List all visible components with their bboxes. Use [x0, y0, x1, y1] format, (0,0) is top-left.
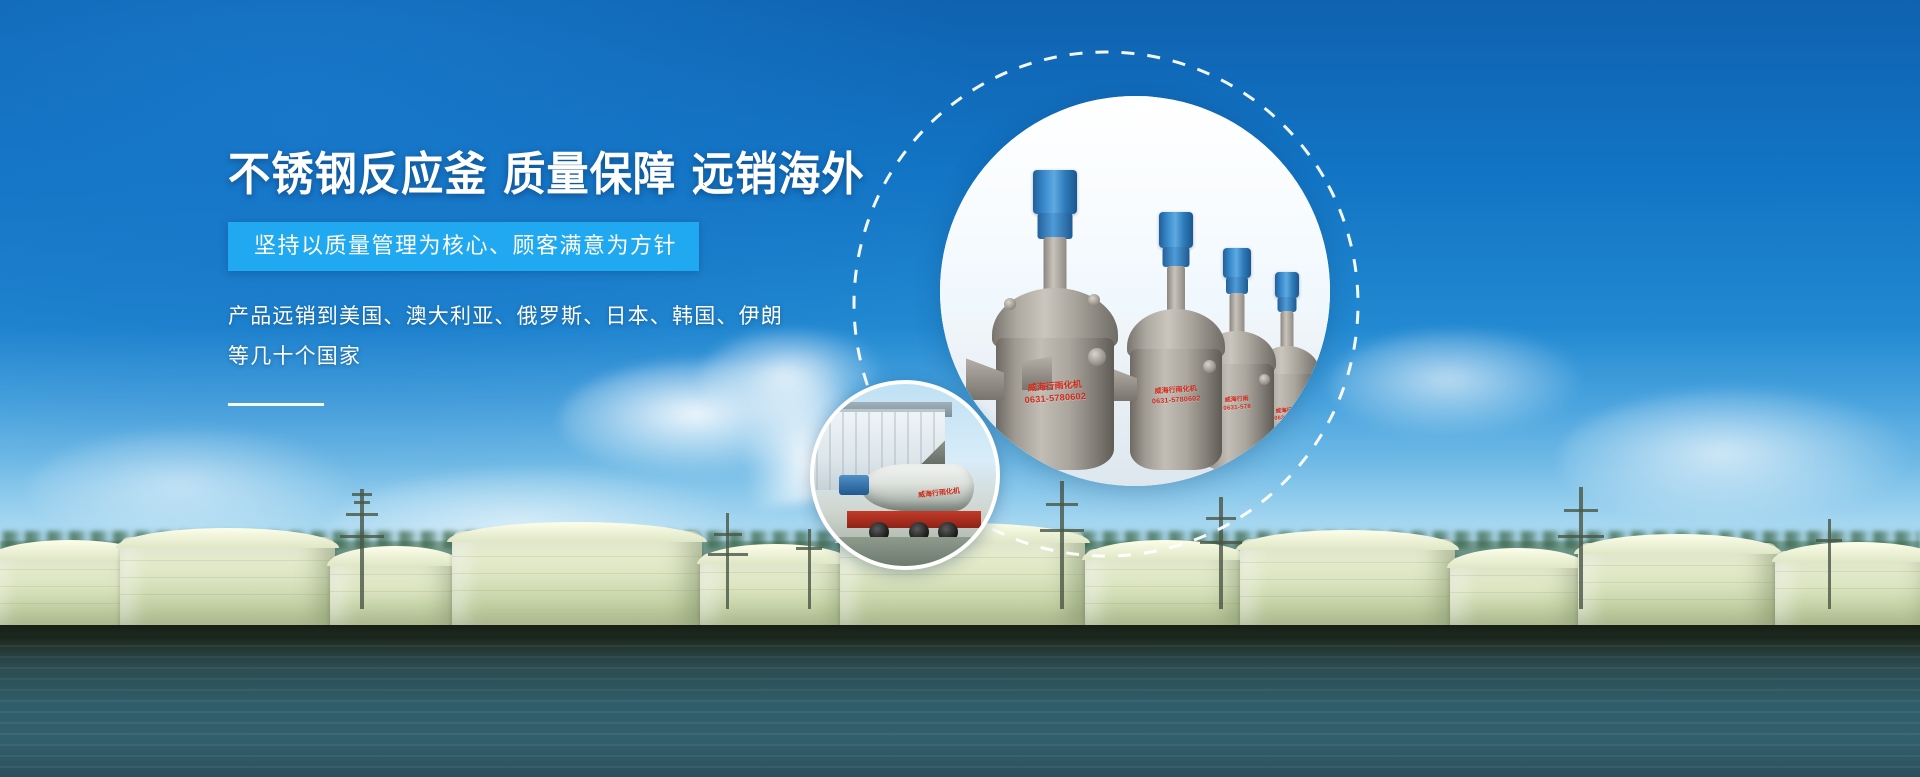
tanker-motor-icon — [839, 475, 868, 495]
tanker-brand-text: 威海行雨化机 — [917, 486, 960, 500]
subtitle-badge: 坚持以质量管理为核心、顾客满意为方针 — [228, 222, 699, 271]
reactor-neck — [1281, 311, 1294, 349]
transmission-pylon — [1810, 519, 1850, 609]
agitator-motor-icon — [1159, 212, 1193, 248]
description-text: 产品远销到美国、澳大利亚、俄罗斯、日本、韩国、伊朗 等几十个国家 — [228, 297, 948, 377]
storage-tank — [120, 537, 335, 627]
waterfront-strip — [0, 625, 1920, 777]
vessel-brand-text: 威海行雨 0631-578 — [1223, 395, 1252, 413]
transmission-pylon — [706, 513, 750, 609]
banner-copy: 不锈钢反应釜 质量保障 远销海外 坚持以质量管理为核心、顾客满意为方针 产品远销… — [228, 150, 948, 406]
reactor-vessel: 威海行雨化机 0631-5780602 — [1130, 212, 1222, 470]
vessel-brand-text: 威海行雨化机 0631-5780602 — [1023, 378, 1086, 406]
reactor-neck — [1167, 266, 1185, 314]
storage-tank — [1240, 539, 1455, 627]
hero-banner: 威海行雨 0631-578 威海行雨 0631-578 — [0, 0, 1920, 777]
reactor-vessel-primary: 威海行雨化机 0631-5780602 — [996, 170, 1114, 470]
inset-photo-circle: 威海行雨化机 — [810, 380, 1000, 570]
gearbox-icon — [1163, 247, 1190, 267]
description-line-1: 产品远销到美国、澳大利亚、俄罗斯、日本、韩国、伊朗 — [228, 297, 948, 337]
agitator-motor-icon — [1223, 248, 1251, 278]
inset-ground — [814, 537, 996, 566]
agitator-motor-icon — [1033, 170, 1077, 214]
vessel-brand-text: 威海行雨 0631-578 — [1274, 408, 1301, 424]
tanker-vessel: 威海行雨化机 — [861, 464, 974, 511]
page-title: 不锈钢反应釜 质量保障 远销海外 — [228, 150, 890, 200]
transmission-pylon — [1200, 497, 1242, 609]
transmission-pylon — [1040, 481, 1084, 609]
storage-tank — [1578, 543, 1778, 627]
gearbox-icon — [1038, 213, 1073, 239]
reactor-neck — [1044, 237, 1067, 295]
gearbox-icon — [1278, 297, 1297, 312]
reactor-neck — [1230, 293, 1245, 335]
transmission-pylon — [336, 489, 388, 609]
gearbox-icon — [1226, 277, 1248, 294]
transmission-pylon — [1558, 487, 1604, 609]
description-line-2: 等几十个国家 — [228, 337, 948, 377]
agitator-motor-icon — [1275, 272, 1299, 298]
vessel-brand-text: 威海行雨化机 0631-5780602 — [1151, 385, 1201, 407]
storage-tank — [452, 531, 702, 627]
product-photo-circle: 威海行雨 0631-578 威海行雨 0631-578 — [940, 96, 1330, 486]
white-rule-divider — [228, 403, 324, 406]
